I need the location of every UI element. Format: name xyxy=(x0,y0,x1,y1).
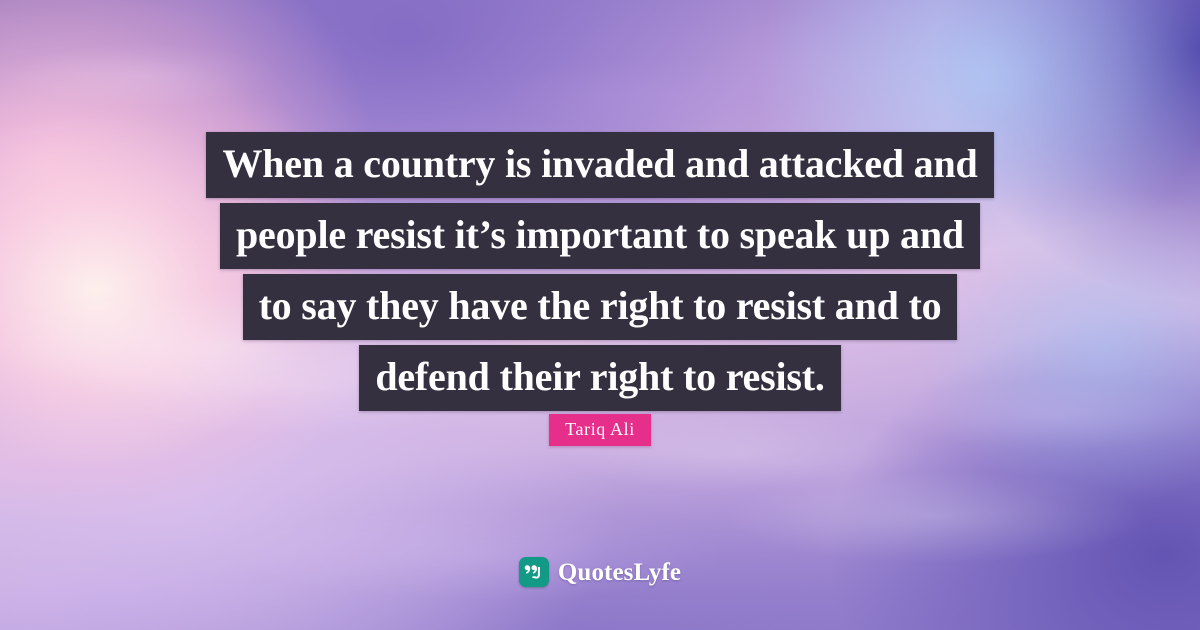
quote-card: When a country is invaded and attacked a… xyxy=(0,0,1200,630)
author-badge-container: Tariq Ali xyxy=(0,414,1200,446)
quote-line: to say they have the right to resist and… xyxy=(243,274,958,340)
author-name-badge[interactable]: Tariq Ali xyxy=(549,414,651,446)
quote-line: When a country is invaded and attacked a… xyxy=(206,132,993,198)
brand-name: QuotesLyfe xyxy=(558,560,681,585)
quote-mark-icon xyxy=(519,557,549,587)
quote-line: people resist it’s important to speak up… xyxy=(220,203,980,269)
quote-text: When a country is invaded and attacked a… xyxy=(0,132,1200,411)
quote-line: defend their right to resist. xyxy=(359,345,840,411)
brand-logo[interactable]: QuotesLyfe xyxy=(0,557,1200,587)
